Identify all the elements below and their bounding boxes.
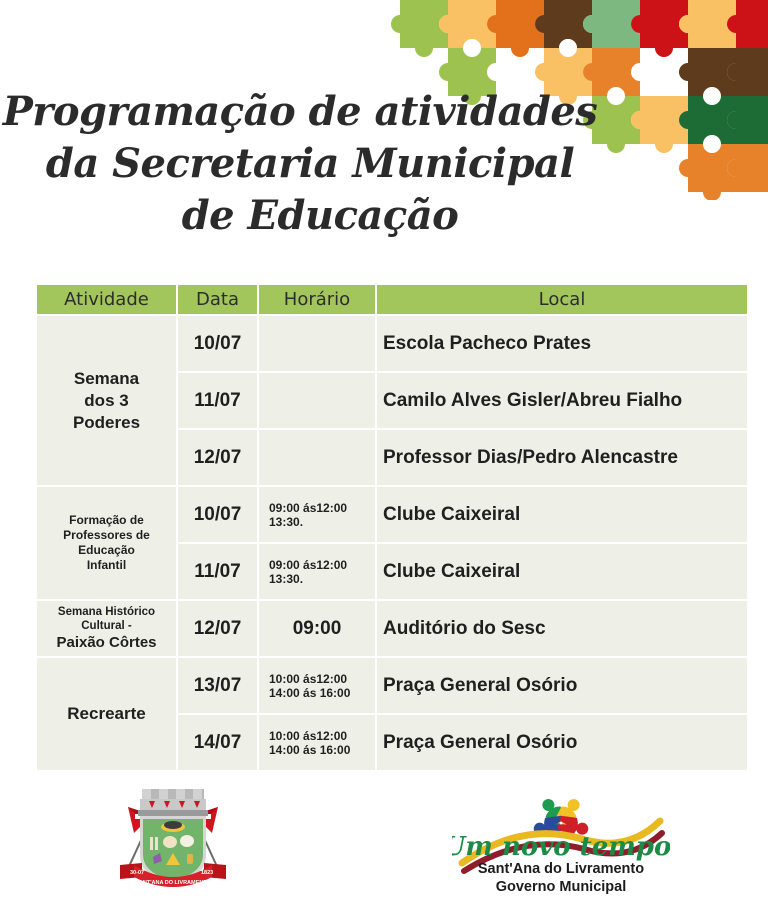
cell-data: 10/07 bbox=[178, 487, 257, 542]
cell-data: 11/07 bbox=[178, 544, 257, 599]
horario-line: 13:30. bbox=[265, 515, 369, 529]
column-header-horario: Horário bbox=[259, 285, 375, 314]
puzzle-piece-r0c4 bbox=[535, 0, 601, 57]
puzzle-piece-r0c2 bbox=[439, 0, 505, 57]
atividade-line: Infantil bbox=[87, 558, 126, 572]
city-logo-caption: Sant'Ana do Livramento Governo Municipal bbox=[452, 860, 670, 896]
title-line-2: da Secretaria Municipal bbox=[0, 138, 640, 190]
cell-horario: 10:00 ás12:00 14:00 ás 16:00 bbox=[259, 715, 375, 770]
puzzle-piece-r0c3 bbox=[487, 0, 553, 57]
banner-date-left: 30-07 bbox=[130, 870, 144, 876]
cell-horario: 10:00 ás12:00 14:00 ás 16:00 bbox=[259, 658, 375, 713]
horario-line: 14:00 ás 16:00 bbox=[265, 686, 369, 700]
table-row: Semana dos 3 Poderes 10/07 Escola Pachec… bbox=[37, 316, 747, 371]
puzzle-piece-r0c5 bbox=[583, 0, 649, 57]
atividade-line: dos 3 bbox=[84, 391, 128, 410]
column-header-data: Data bbox=[178, 285, 257, 314]
atividade-line: Professores de bbox=[63, 528, 150, 542]
cell-data: 10/07 bbox=[178, 316, 257, 371]
puzzle-piece-r2c6 bbox=[631, 96, 697, 153]
schedule-table: Atividade Data Horário Local Semana dos … bbox=[35, 283, 749, 772]
cell-horario bbox=[259, 316, 375, 371]
cell-horario bbox=[259, 430, 375, 485]
column-header-local: Local bbox=[377, 285, 747, 314]
cell-local: Clube Caixeiral bbox=[377, 487, 747, 542]
horario-line: 10:00 ás12:00 bbox=[265, 729, 369, 743]
cell-data: 12/07 bbox=[178, 430, 257, 485]
cell-data: 14/07 bbox=[178, 715, 257, 770]
puzzle-piece-r0c7 bbox=[679, 0, 745, 57]
puzzle-piece-r3c8 bbox=[727, 144, 768, 192]
poster-root: Programação de atividades da Secretaria … bbox=[0, 0, 768, 912]
puzzle-piece-r2c7 bbox=[679, 87, 745, 153]
atividade-line: Cultural - bbox=[43, 619, 170, 633]
cell-local: Praça General Osório bbox=[377, 715, 747, 770]
mural-crown-icon bbox=[138, 789, 208, 816]
table-row: Semana Histórico Cultural - Paixão Côrte… bbox=[37, 601, 747, 656]
cell-atividade-recrearte: Recrearte bbox=[37, 658, 176, 770]
banner-date-right: 1823 bbox=[201, 870, 213, 876]
cell-data: 13/07 bbox=[178, 658, 257, 713]
table-body: Semana dos 3 Poderes 10/07 Escola Pachec… bbox=[37, 316, 747, 770]
puzzle-piece-r1c8 bbox=[727, 48, 768, 105]
coat-of-arms-svg: 30-07 1823 SANT'ANA DO LIVRAMENTO bbox=[112, 785, 234, 897]
banner-city-name: SANT'ANA DO LIVRAMENTO bbox=[135, 880, 211, 886]
city-logo-slogan: Um novo tempo bbox=[452, 832, 670, 862]
page-title: Programação de atividades da Secretaria … bbox=[0, 86, 640, 242]
atividade-line: Poderes bbox=[73, 413, 140, 432]
cell-local: Auditório do Sesc bbox=[377, 601, 747, 656]
title-line-1: Programação de atividades bbox=[0, 86, 640, 138]
horario-line: 09:00 ás12:00 bbox=[265, 501, 369, 515]
cell-horario: 09:00 ás12:00 13:30. bbox=[259, 544, 375, 599]
table-row: Formação de Professores de Educação Infa… bbox=[37, 487, 747, 542]
cell-horario: 09:00 ás12:00 13:30. bbox=[259, 487, 375, 542]
puzzle-piece-r0c1 bbox=[391, 0, 457, 57]
cell-local: Escola Pacheco Prates bbox=[377, 316, 747, 371]
cell-data: 12/07 bbox=[178, 601, 257, 656]
title-line-3: de Educação bbox=[0, 190, 640, 242]
cell-local: Camilo Alves Gisler/Abreu Fialho bbox=[377, 373, 747, 428]
puzzle-piece-r0c6 bbox=[631, 0, 697, 57]
puzzle-piece-r1c7 bbox=[679, 48, 745, 105]
atividade-line: Educação bbox=[78, 543, 135, 557]
cell-atividade-semana-historico-cultural: Semana Histórico Cultural - Paixão Côrte… bbox=[37, 601, 176, 656]
horario-line: 14:00 ás 16:00 bbox=[265, 743, 369, 757]
footer: 30-07 1823 SANT'ANA DO LIVRAMENTO bbox=[0, 775, 768, 912]
coat-of-arms-icon: 30-07 1823 SANT'ANA DO LIVRAMENTO bbox=[112, 785, 234, 897]
table-row: Recrearte 13/07 10:00 ás12:00 14:00 ás 1… bbox=[37, 658, 747, 713]
cell-atividade-semana-3-poderes: Semana dos 3 Poderes bbox=[37, 316, 176, 485]
horario-line: 09:00 ás12:00 bbox=[265, 558, 369, 572]
cell-local: Professor Dias/Pedro Alencastre bbox=[377, 430, 747, 485]
puzzle-piece-r2c8 bbox=[727, 96, 768, 144]
column-header-atividade: Atividade bbox=[37, 285, 176, 314]
puzzle-piece-r0c8 bbox=[727, 0, 768, 57]
atividade-line: Paixão Côrtes bbox=[43, 633, 170, 652]
cell-atividade-formacao-professores: Formação de Professores de Educação Infa… bbox=[37, 487, 176, 599]
city-logo-caption-line1: Sant'Ana do Livramento bbox=[452, 860, 670, 878]
atividade-line: Semana Histórico bbox=[43, 605, 170, 619]
cell-horario bbox=[259, 373, 375, 428]
puzzle-piece-r3c7 bbox=[679, 135, 745, 200]
horario-line: 10:00 ás12:00 bbox=[265, 672, 369, 686]
horario-line: 13:30. bbox=[265, 572, 369, 586]
cell-local: Praça General Osório bbox=[377, 658, 747, 713]
cell-local: Clube Caixeiral bbox=[377, 544, 747, 599]
city-logo-caption-line2: Governo Municipal bbox=[452, 878, 670, 896]
atividade-line: Formação de bbox=[69, 513, 144, 527]
cell-horario: 09:00 bbox=[259, 601, 375, 656]
atividade-line: Semana bbox=[74, 369, 139, 388]
table-header-row: Atividade Data Horário Local bbox=[37, 285, 747, 314]
cell-data: 11/07 bbox=[178, 373, 257, 428]
